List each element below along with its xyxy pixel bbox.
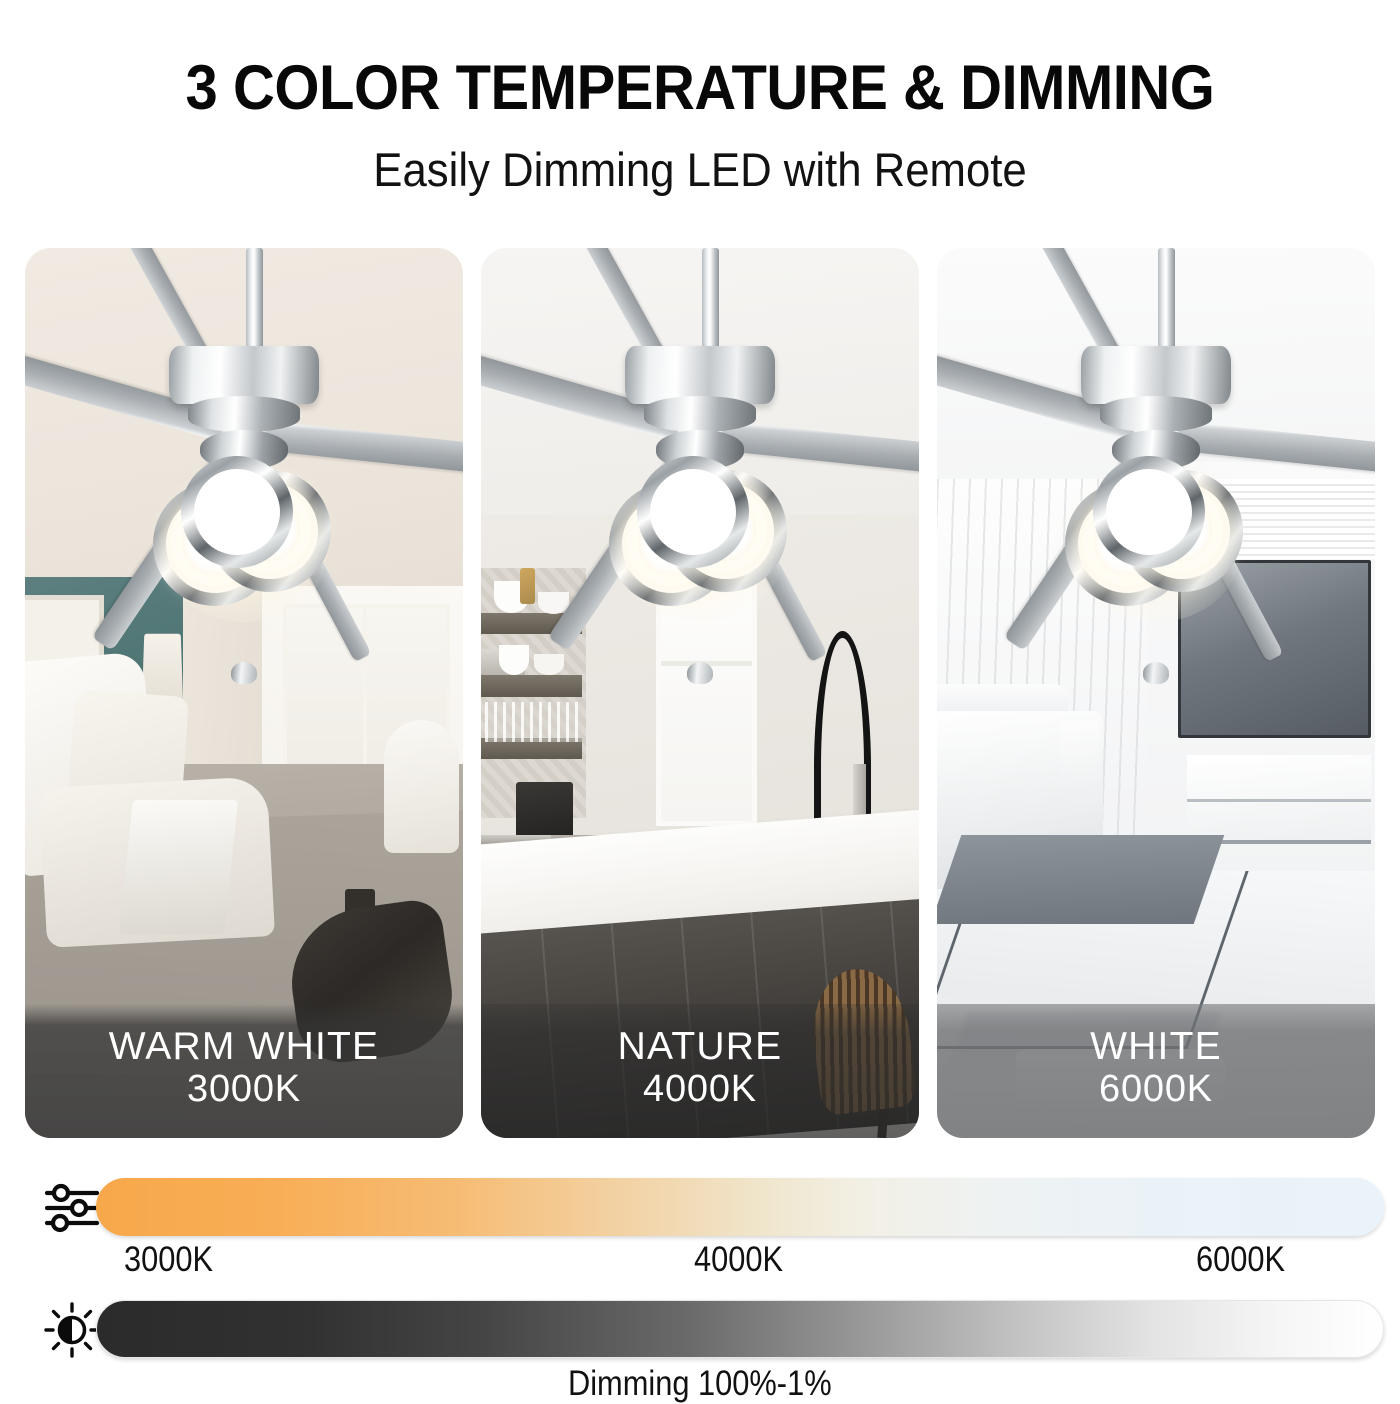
fan-downrod [702, 248, 719, 356]
card-label-name: WHITE [1090, 1027, 1222, 1068]
fan-light-kit [147, 448, 341, 616]
color-temperature-gradient-bar[interactable] [96, 1178, 1384, 1236]
card-label-nature: NATURE 4000K [481, 1004, 919, 1138]
temp-tick-3000k: 3000K [124, 1240, 213, 1280]
card-label-name: WARM WHITE [109, 1027, 380, 1068]
card-label-white: WHITE 6000K [937, 1004, 1375, 1138]
fan-finial [231, 662, 257, 684]
card-label-name: NATURE [618, 1027, 783, 1068]
page-header: 3 COLOR TEMPERATURE & DIMMING Easily Dim… [0, 0, 1400, 197]
page-subtitle: Easily Dimming LED with Remote [49, 142, 1351, 197]
dimming-label-text: Dimming 100%-1% [568, 1364, 832, 1404]
dimming-slider-row: Dimming 100%-1% [0, 1290, 1400, 1390]
card-nature[interactable]: NATURE 4000K [481, 248, 919, 1138]
page-title: 3 COLOR TEMPERATURE & DIMMING [56, 52, 1344, 124]
card-label-temperature: 4000K [643, 1070, 757, 1110]
fan-downrod [246, 248, 263, 356]
card-warm-white[interactable]: WARM WHITE 3000K [25, 248, 463, 1138]
color-temperature-labels: 3000K 4000K 6000K [96, 1240, 1384, 1282]
fan-finial [687, 662, 713, 684]
card-label-temperature: 6000K [1099, 1070, 1213, 1110]
dimming-gradient-bar[interactable] [96, 1300, 1384, 1358]
temp-tick-6000k: 6000K [1196, 1240, 1285, 1280]
fan-downrod [1158, 248, 1175, 356]
settings-sliders-icon [44, 1180, 100, 1236]
fan-hub-upper [1100, 396, 1212, 432]
color-temperature-slider-row: 3000K 4000K 6000K [0, 1168, 1400, 1268]
fan-hub-upper [644, 396, 756, 432]
fan-light-kit [1059, 448, 1253, 616]
temp-tick-4000k: 4000K [694, 1240, 783, 1280]
fan-hub-upper [188, 396, 300, 432]
card-white[interactable]: WHITE 6000K [937, 248, 1375, 1138]
fan-light-kit [603, 448, 797, 616]
color-temperature-cards: WARM WHITE 3000K [25, 248, 1375, 1138]
card-label-temperature: 3000K [187, 1070, 301, 1110]
fan-finial [1143, 662, 1169, 684]
slider-section: 3000K 4000K 6000K [0, 1168, 1400, 1390]
card-label-warm-white: WARM WHITE 3000K [25, 1004, 463, 1138]
dimming-label: Dimming 100%-1% [0, 1364, 1400, 1404]
brightness-half-icon [44, 1302, 100, 1358]
